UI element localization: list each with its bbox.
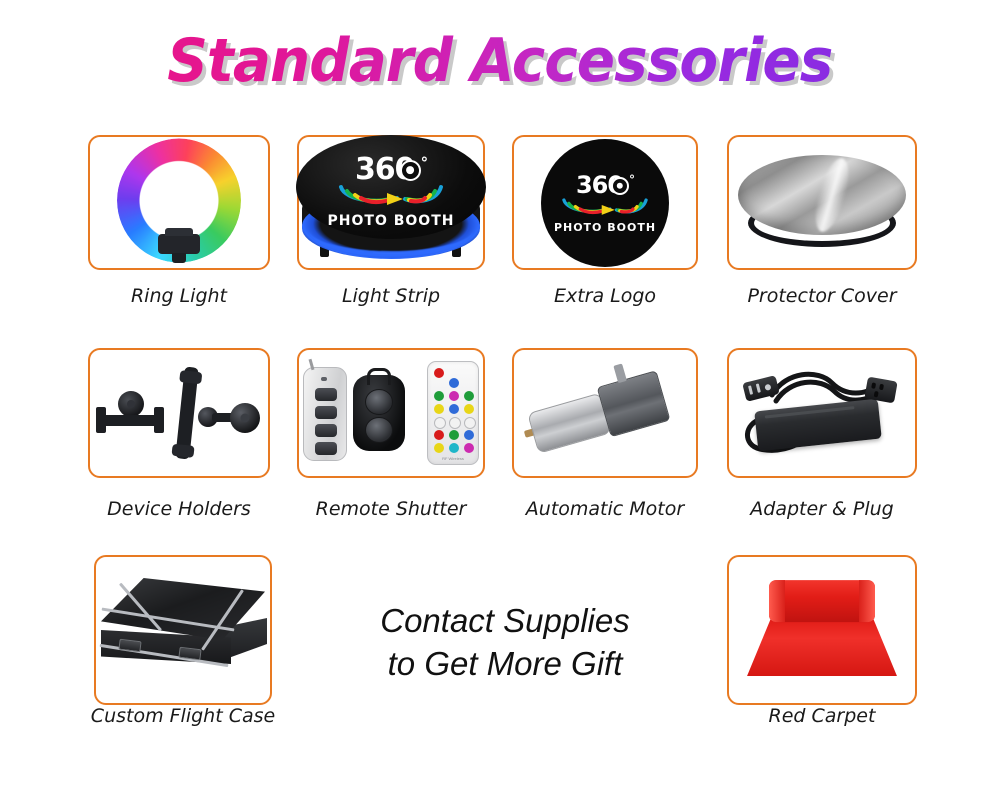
- card-custom-flight-case[interactable]: [94, 555, 272, 705]
- promo-message: Contact Supplies to Get More Gift: [330, 600, 680, 686]
- remotes-icon: RF Wireless: [303, 361, 479, 465]
- remote-controls-image: RF Wireless: [299, 350, 483, 476]
- label-extra-logo: Extra Logo: [512, 285, 698, 307]
- red-carpet-icon: [747, 580, 897, 676]
- logo-disc-icon: 360° PHOTO BOOTH: [541, 139, 669, 267]
- accessories-infographic: Standard Accessories Standard Accessorie…: [0, 0, 1000, 800]
- platform-top-icon: 360° PHOTO BOO: [296, 135, 486, 239]
- label-red-carpet: Red Carpet: [727, 705, 917, 727]
- card-protector-cover[interactable]: [727, 135, 917, 270]
- page-title-text: Standard Accessories: [167, 26, 832, 96]
- carpet-roll-right-end-icon: [859, 580, 875, 622]
- label-remote-shutter: Remote Shutter: [292, 498, 490, 520]
- motor-gearbox-icon: [597, 370, 671, 437]
- rgb-remote-footer: RF Wireless: [428, 456, 478, 461]
- phone-holder-image: [90, 350, 268, 476]
- red-carpet-image: [729, 557, 915, 703]
- card-automatic-motor[interactable]: [512, 348, 698, 478]
- dc-gear-motor-image: [514, 350, 696, 476]
- platform-icon: 360° PHOTO BOO: [296, 135, 486, 271]
- carpet-roll-left-end-icon: [769, 580, 785, 622]
- card-light-strip[interactable]: 360° PHOTO BOO: [297, 135, 485, 270]
- logo-disc-image: 360° PHOTO BOOTH: [514, 137, 696, 268]
- protector-cover-image: [729, 137, 915, 268]
- motor-body-icon: [527, 393, 612, 454]
- card-red-carpet[interactable]: [727, 555, 917, 705]
- card-adapter-plug[interactable]: [727, 348, 917, 478]
- motor-output-shaft-icon: [613, 363, 627, 383]
- camera-aperture-icon: [611, 177, 629, 195]
- label-device-holders: Device Holders: [78, 498, 280, 520]
- camera-aperture-icon: [400, 160, 421, 181]
- logo-degree: °: [629, 173, 634, 187]
- logo-360-platform: 360° PHOTO BOO: [296, 155, 486, 229]
- adapter-icon: [732, 361, 912, 465]
- power-adapter-image: [729, 350, 915, 476]
- label-automatic-motor: Automatic Motor: [506, 498, 704, 520]
- label-adapter-plug: Adapter & Plug: [722, 498, 922, 520]
- promo-line-1: Contact Supplies: [330, 600, 680, 643]
- holder-disc-knob-icon: [230, 403, 260, 433]
- logo-degree: °: [421, 154, 428, 172]
- label-protector-cover: Protector Cover: [727, 285, 917, 307]
- holder-arm-icon: [175, 367, 199, 460]
- logo-subtitle: PHOTO BOOTH: [541, 221, 669, 234]
- label-light-strip: Light Strip: [297, 285, 485, 307]
- card-extra-logo[interactable]: 360° PHOTO BOOTH: [512, 135, 698, 270]
- card-remote-shutter[interactable]: RF Wireless: [297, 348, 485, 478]
- card-device-holders[interactable]: [88, 348, 270, 478]
- rainbow-swoosh-icon: [559, 195, 651, 215]
- photo-booth-platform-image: 360° PHOTO BOO: [299, 137, 483, 268]
- bluetooth-shutter-icon: [353, 375, 405, 451]
- page-title: Standard Accessories: [0, 26, 1000, 96]
- device-holders-icon: [94, 363, 264, 463]
- ring-light-image: [90, 137, 268, 268]
- motor-icon: [525, 364, 685, 461]
- protector-cover-icon: [738, 155, 906, 255]
- label-custom-flight-case: Custom Flight Case: [68, 705, 298, 727]
- flight-case-image: [96, 557, 270, 703]
- promo-line-2: to Get More Gift: [330, 643, 680, 686]
- label-ring-light: Ring Light: [88, 285, 270, 307]
- logo-360-disc: 360° PHOTO BOOTH: [541, 173, 669, 234]
- rainbow-swoosh-icon: [335, 181, 447, 205]
- rgb-remote-icon: RF Wireless: [427, 361, 479, 465]
- card-ring-light[interactable]: [88, 135, 270, 270]
- flight-case-icon: [95, 578, 271, 682]
- ring-light-bracket-icon: [158, 234, 200, 254]
- carpet-flat-icon: [747, 618, 897, 676]
- logo-subtitle: PHOTO BOOTH: [296, 213, 486, 229]
- phone-clamp-icon: [96, 391, 170, 435]
- rf-remote-icon: [303, 367, 347, 461]
